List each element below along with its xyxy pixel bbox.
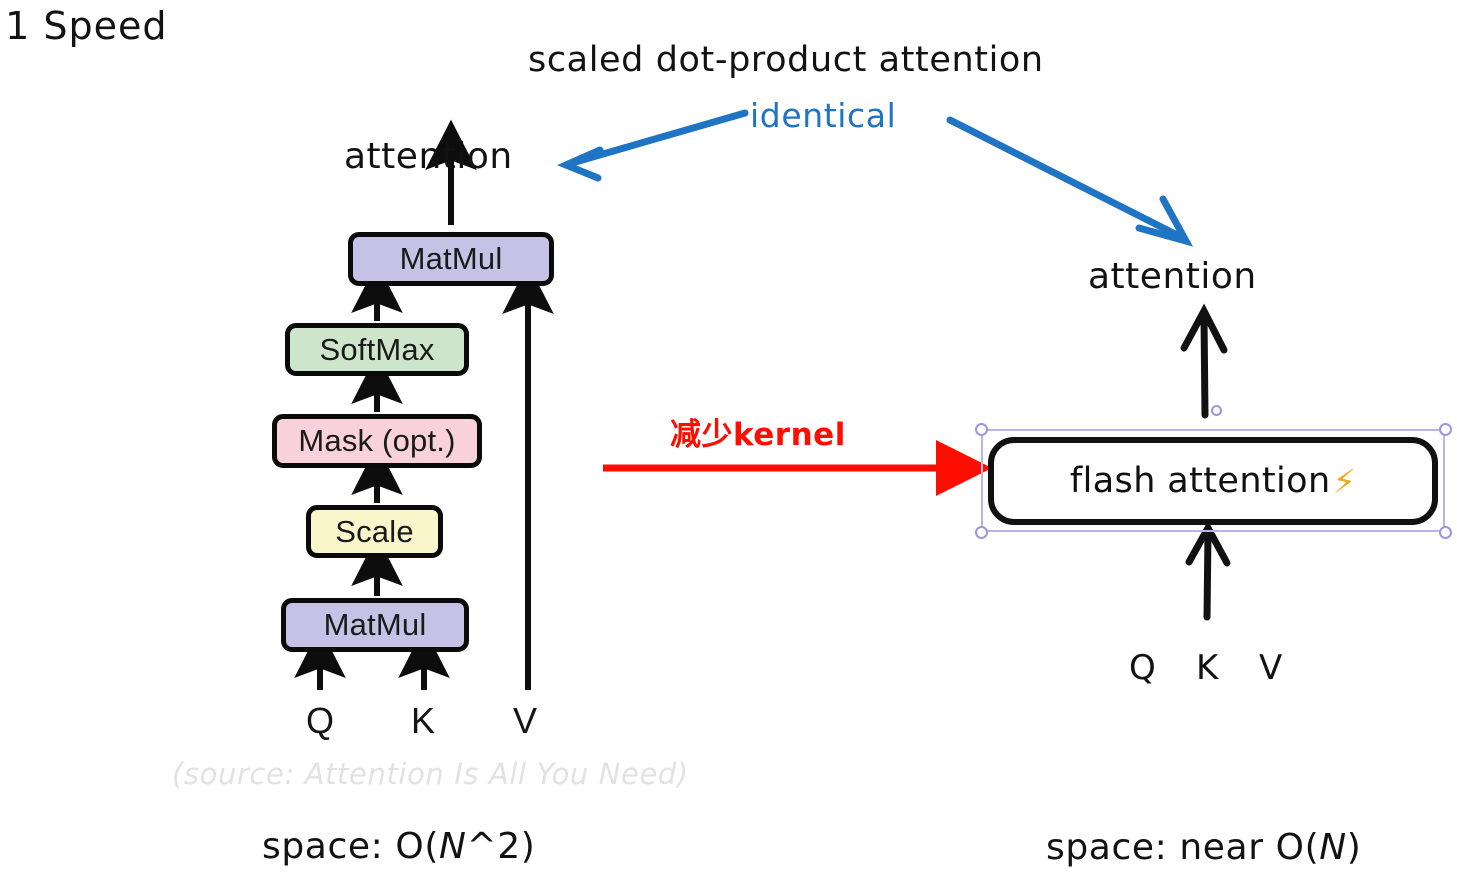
source-citation: (source: Attention Is All You Need) — [172, 757, 689, 791]
page-title: .1 Speed — [0, 4, 167, 48]
right-space-suffix: ) — [1347, 827, 1362, 868]
left-output-label: attention — [344, 136, 513, 177]
flash-attention-label: flash attention — [1070, 461, 1331, 501]
left-diagram-heading: scaled dot-product attention — [528, 40, 1044, 80]
selection-handle-bottom-left[interactable] — [975, 526, 988, 539]
selection-handle-bottom-right[interactable] — [1439, 526, 1452, 539]
right-input-q: Q — [1129, 648, 1156, 688]
left-space-o: O( — [395, 826, 439, 867]
right-space-n: N — [1319, 827, 1347, 868]
left-space-n: N — [439, 826, 467, 867]
selection-handle-top-left[interactable] — [975, 423, 988, 436]
slide-canvas: .1 Speed scaled dot-product attention id… — [0, 0, 1457, 893]
flash-attention-box[interactable]: flash attention⚡ — [988, 437, 1438, 525]
left-input-v: V — [513, 700, 537, 742]
right-input-v: V — [1259, 648, 1283, 688]
op-box-mask[interactable]: Mask (opt.) — [272, 414, 482, 468]
right-space-o: O( — [1276, 827, 1320, 868]
right-space-complexity: space: near O(N) — [1046, 827, 1361, 868]
right-space-prefix: space: near — [1046, 827, 1276, 868]
op-box-scale[interactable]: Scale — [306, 505, 443, 558]
op-box-matmul-top[interactable]: MatMul — [348, 232, 554, 286]
op-box-label: Mask (opt.) — [298, 423, 455, 459]
op-box-label: MatMul — [400, 241, 503, 277]
right-output-label: attention — [1088, 256, 1257, 297]
left-input-k: K — [411, 700, 435, 742]
flash-attention-label-wrap: flash attention⚡ — [1070, 461, 1356, 501]
reduce-kernel-annotation-label: 减少kernel — [670, 409, 846, 454]
op-box-label: Scale — [335, 514, 414, 550]
identical-annotation-label: identical — [750, 96, 896, 135]
left-space-complexity: space: O(N^2) — [262, 826, 535, 867]
op-box-softmax[interactable]: SoftMax — [285, 323, 469, 376]
left-space-suffix: ^2) — [467, 826, 536, 867]
lightning-bolt-icon: ⚡ — [1333, 462, 1357, 501]
left-input-q: Q — [306, 700, 334, 742]
op-box-matmul-bottom[interactable]: MatMul — [281, 598, 469, 652]
selection-rotation-handle[interactable] — [1211, 405, 1222, 416]
op-box-label: SoftMax — [319, 332, 434, 368]
selection-handle-top-right[interactable] — [1439, 423, 1452, 436]
right-input-k: K — [1196, 648, 1219, 688]
left-space-prefix: space: — [262, 826, 395, 867]
op-box-label: MatMul — [324, 607, 427, 643]
